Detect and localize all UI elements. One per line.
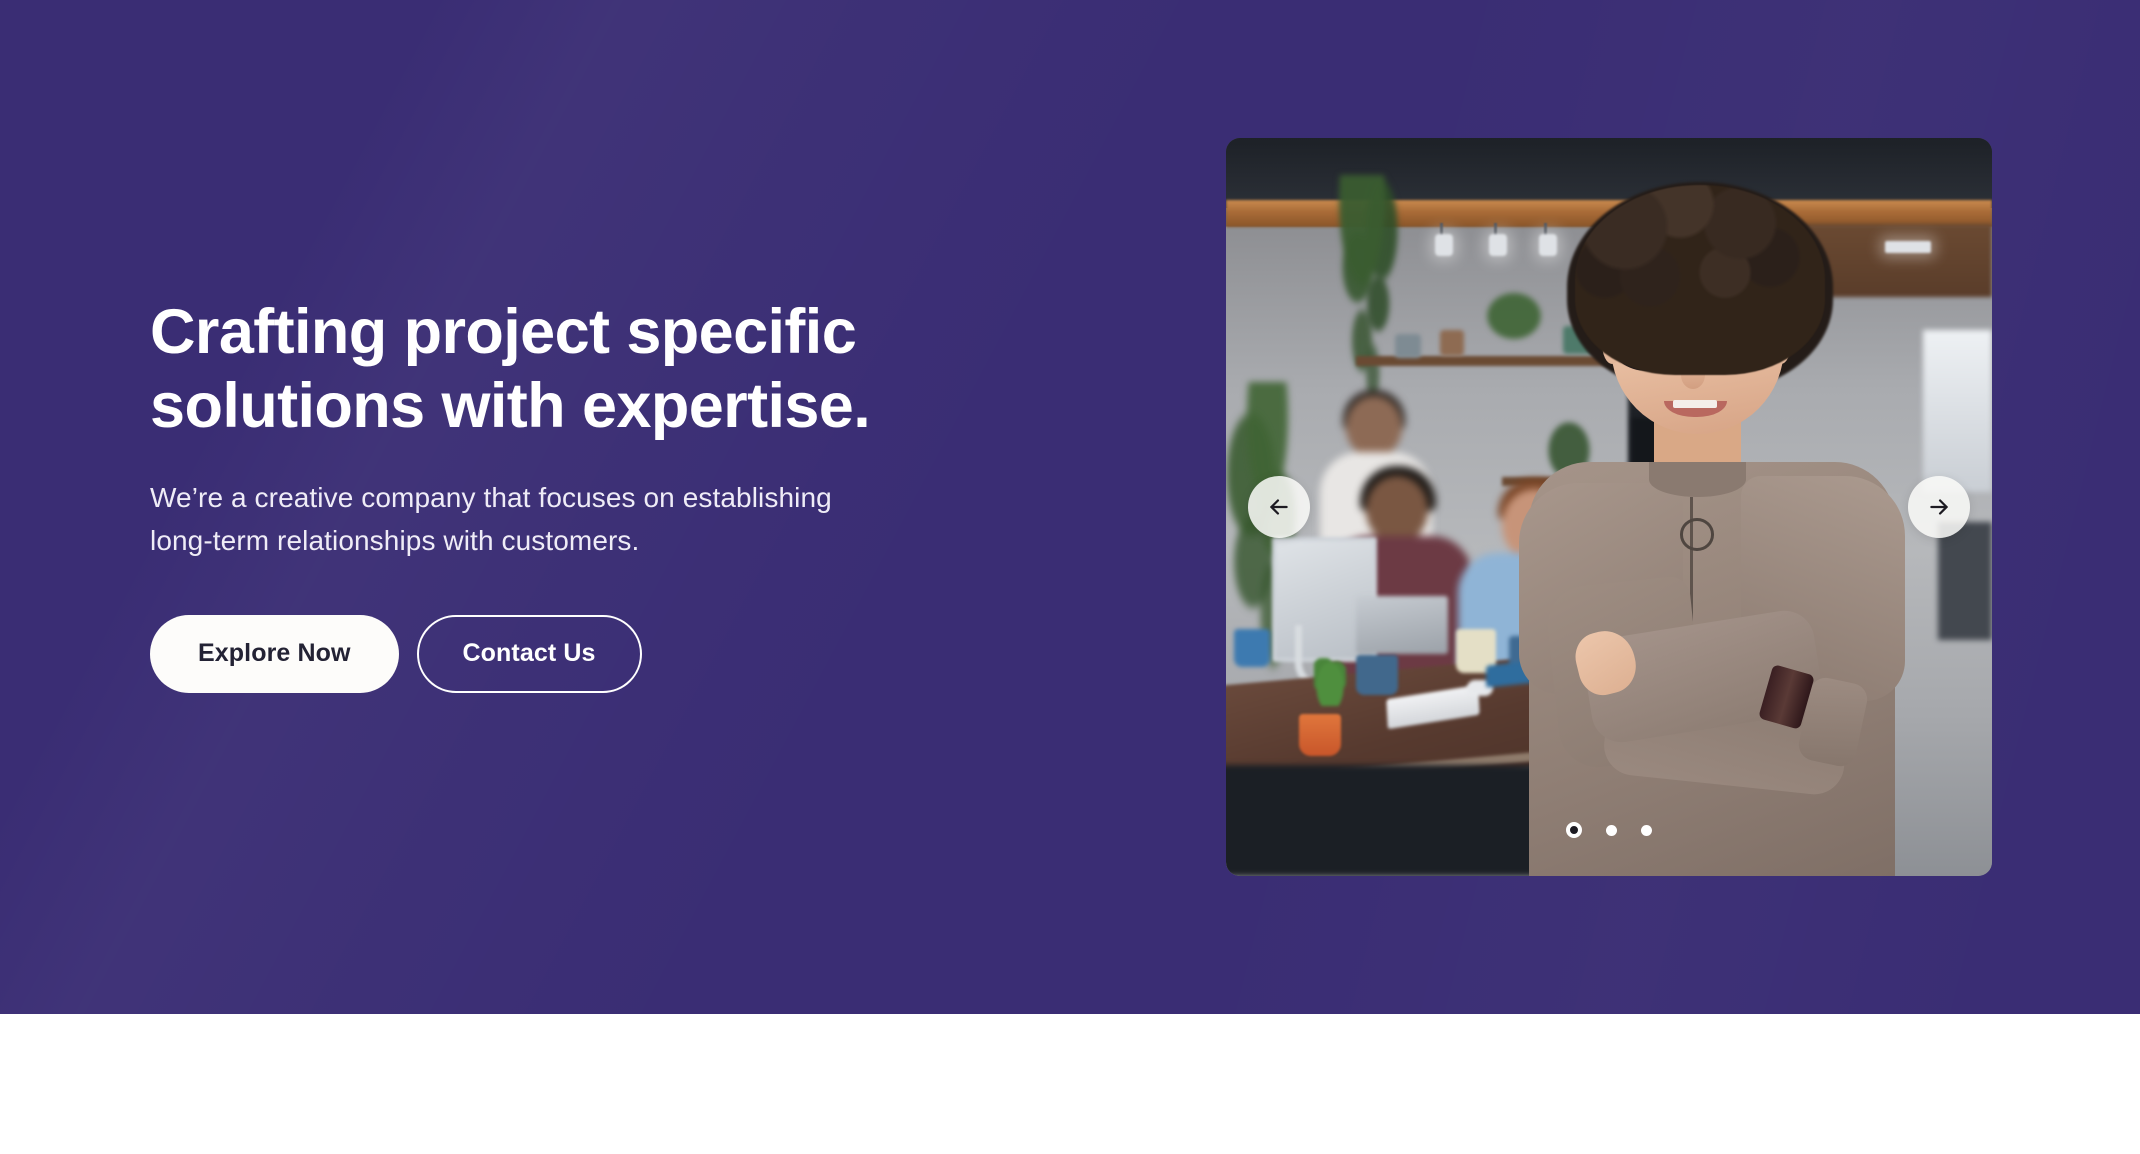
track-light <box>1435 234 1453 256</box>
carousel-dot-3[interactable] <box>1641 825 1652 836</box>
hero-carousel[interactable] <box>1226 138 1992 876</box>
explore-now-button[interactable]: Explore Now <box>150 615 399 693</box>
page-title: Crafting project specific solutions with… <box>150 296 970 443</box>
coffee-mug <box>1234 629 1270 667</box>
hero-section: Crafting project specific solutions with… <box>0 0 2140 1014</box>
shelf-pot <box>1395 334 1421 358</box>
contact-us-button[interactable]: Contact Us <box>417 615 642 693</box>
coffee-mug <box>1356 655 1398 695</box>
page-below-fold <box>0 1014 2140 1154</box>
hanging-plant <box>1326 175 1416 405</box>
carousel-dot-1[interactable] <box>1566 822 1582 838</box>
hero-cta-group: Explore Now Contact Us <box>150 615 970 693</box>
shelf-pot <box>1440 330 1464 356</box>
hero-content: Crafting project specific solutions with… <box>0 0 2140 1014</box>
laptop <box>1356 596 1448 654</box>
track-light <box>1489 234 1507 256</box>
carousel-slide <box>1226 138 1992 876</box>
arrow-left-icon <box>1266 494 1292 520</box>
carousel-next-button[interactable] <box>1908 476 1970 538</box>
teeth <box>1673 400 1716 408</box>
curly-hair <box>1575 185 1826 374</box>
carousel-dots <box>1226 822 1992 838</box>
cactus-plant <box>1314 658 1346 706</box>
hero-subtitle: We’re a creative company that focuses on… <box>150 477 950 562</box>
terracotta-pot <box>1299 714 1341 756</box>
arrow-right-icon <box>1926 494 1952 520</box>
carousel-prev-button[interactable] <box>1248 476 1310 538</box>
zipper-pull-ring <box>1680 518 1714 550</box>
hero-copy: Crafting project specific solutions with… <box>150 296 970 693</box>
carousel-dot-2[interactable] <box>1606 825 1617 836</box>
